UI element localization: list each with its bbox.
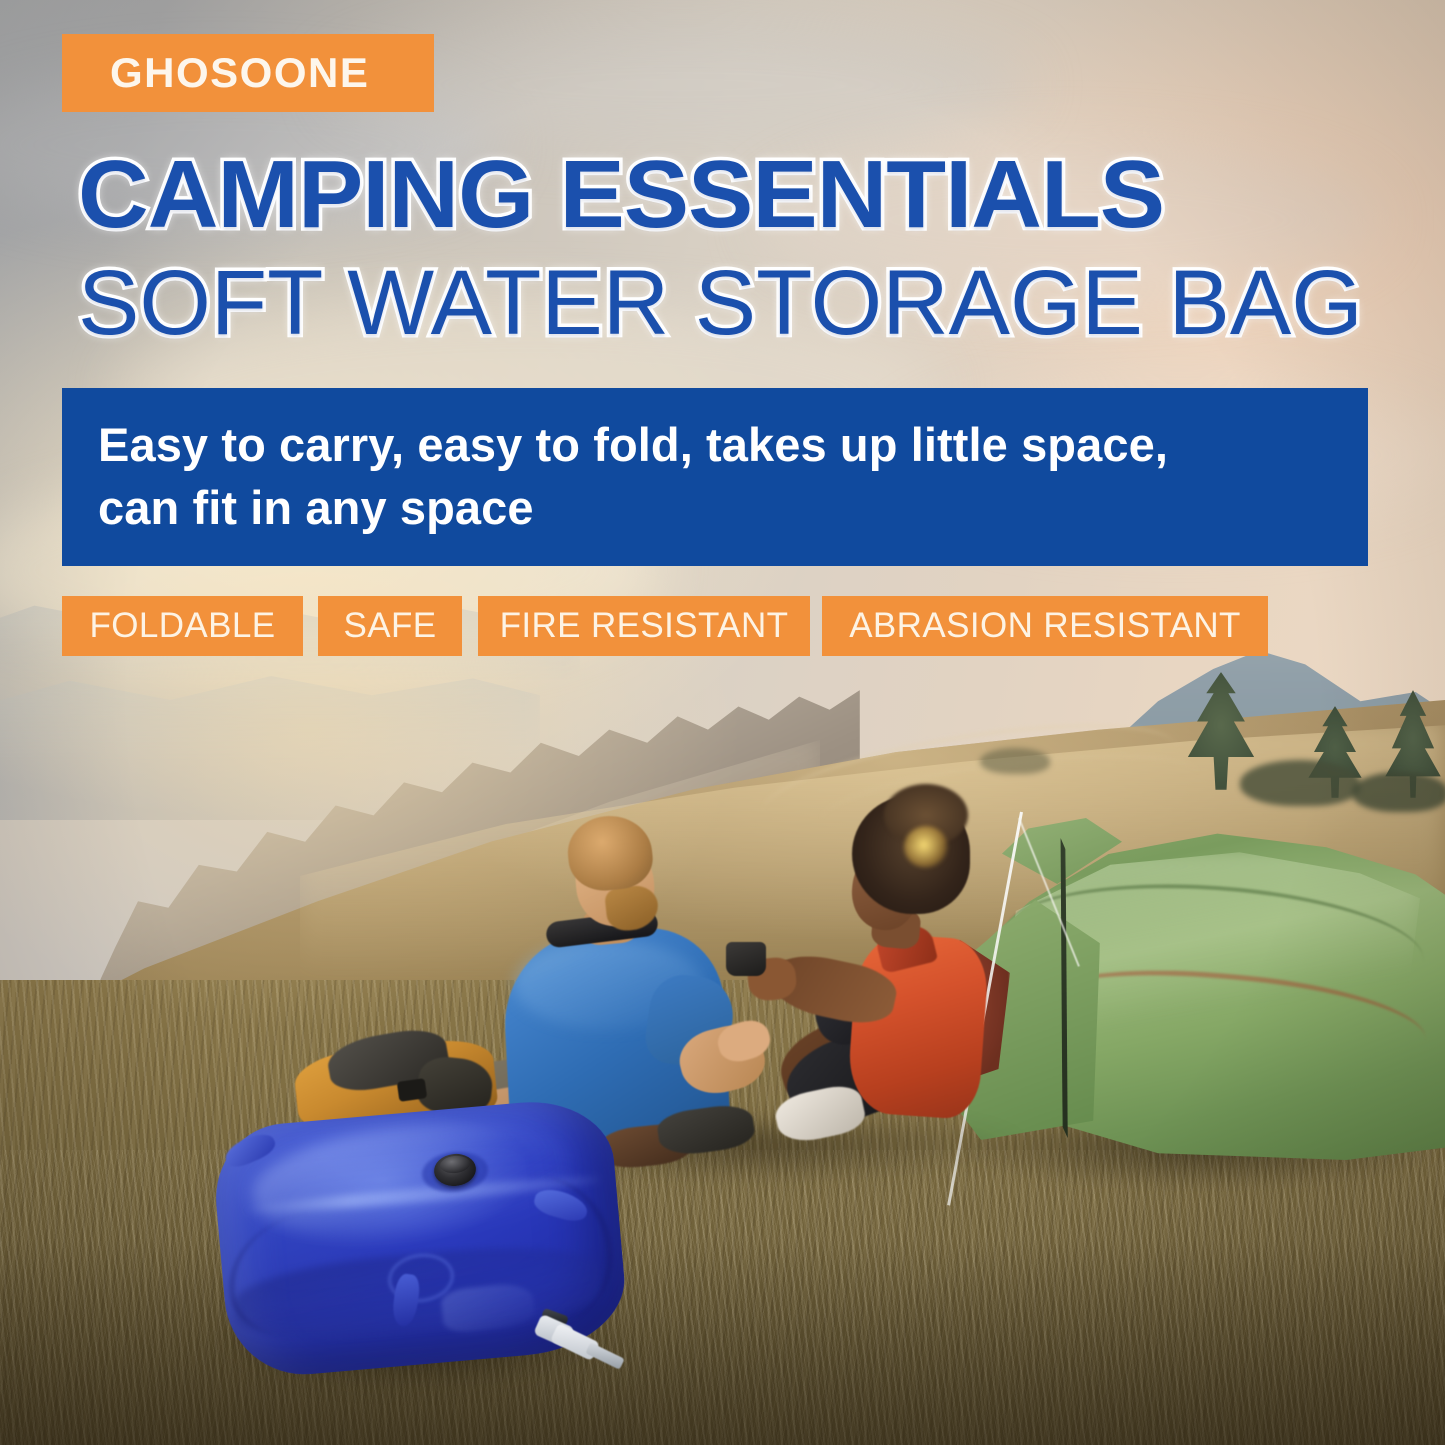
feature-tag-foldable: FOLDABLE — [62, 596, 303, 656]
feature-tag-abrasion-resistant: ABRASION RESISTANT — [822, 596, 1268, 656]
feature-tag-label: FIRE RESISTANT — [500, 606, 789, 646]
cloud-streak — [330, 20, 1030, 150]
brand-badge: GHOSOONE — [62, 34, 434, 112]
feature-tag-label: ABRASION RESISTANT — [849, 606, 1241, 646]
camping-cup — [726, 942, 766, 976]
feature-tag-label: FOLDABLE — [89, 606, 275, 646]
feature-banner: Easy to carry, easy to fold, takes up li… — [62, 388, 1368, 566]
banner-line-2: can fit in any space — [98, 477, 1332, 540]
brand-name: GHOSOONE — [110, 49, 369, 97]
feature-tag-label: SAFE — [343, 606, 436, 646]
banner-line-1: Easy to carry, easy to fold, takes up li… — [98, 414, 1332, 477]
headline-line-1: CAMPING ESSENTIALS — [78, 146, 1435, 244]
feature-tag-safe: SAFE — [318, 596, 462, 656]
headline-block: CAMPING ESSENTIALS SOFT WATER STORAGE BA… — [78, 146, 1408, 352]
product-marketing-poster: GHOSOONE CAMPING ESSENTIALS SOFT WATER S… — [0, 0, 1445, 1445]
headline-line-2: SOFT WATER STORAGE BAG — [78, 256, 1408, 352]
backpack-buckle — [397, 1078, 428, 1102]
water-storage-bag-product — [212, 1104, 632, 1404]
feature-tag-fire-resistant: FIRE RESISTANT — [478, 596, 810, 656]
sun-flare — [904, 826, 948, 868]
shrub — [980, 748, 1050, 774]
